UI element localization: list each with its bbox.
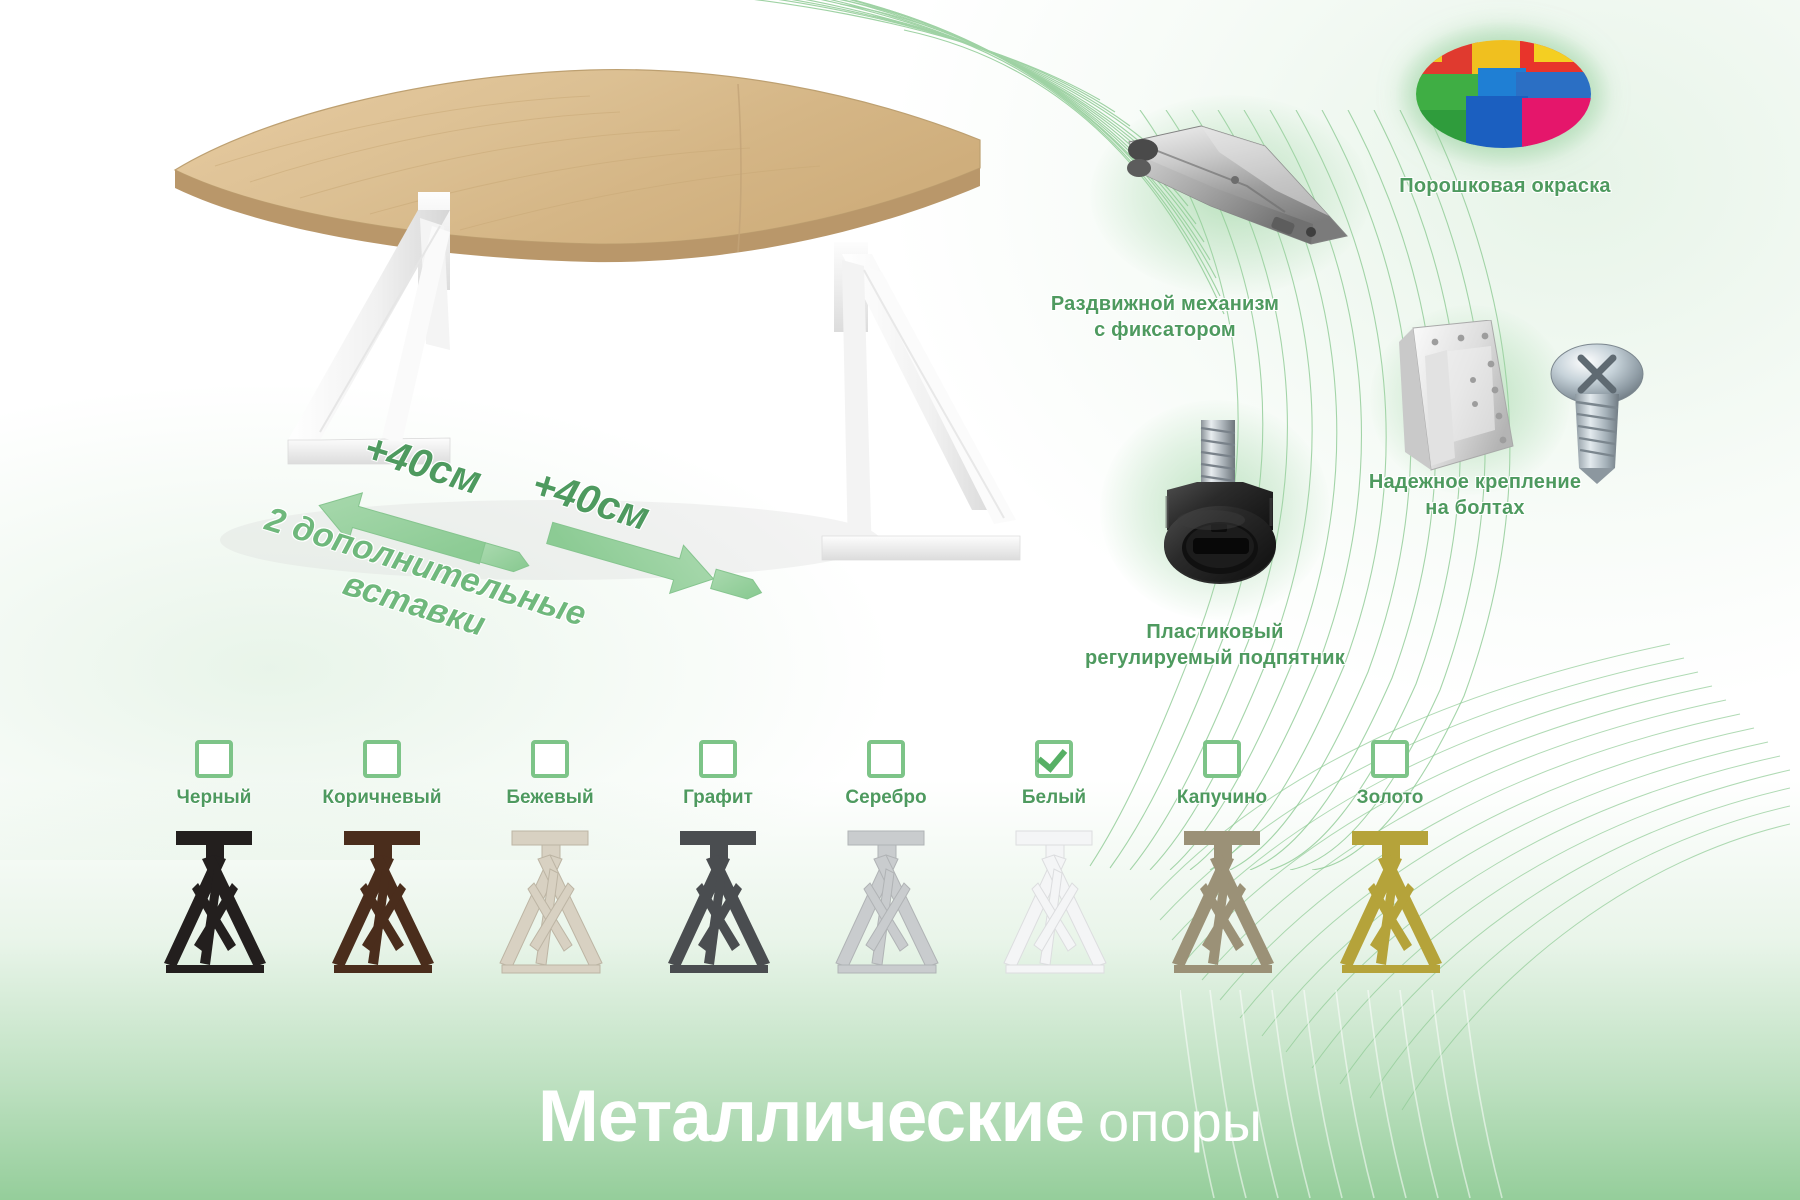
- leg-preview-7: [1290, 825, 1490, 975]
- color-checkbox-3[interactable]: [699, 740, 737, 778]
- color-name-7: Золото: [1290, 787, 1490, 809]
- color-checkbox-5[interactable]: [1035, 740, 1073, 778]
- infographic-canvas: +40см +40см 2 дополнительные вставки Пор…: [0, 0, 1800, 1200]
- powder-coating-label: Порошковая окраска: [1360, 174, 1650, 200]
- bolt-mount-label: Надежное крепление на болтах: [1330, 470, 1620, 521]
- color-checkbox-4[interactable]: [867, 740, 905, 778]
- bottom-title-strong: Металлические: [538, 1076, 1084, 1157]
- sliding-mechanism-icon: [1115, 120, 1365, 265]
- plastic-adjustable-foot-icon: [1145, 420, 1295, 615]
- color-checkbox-1[interactable]: [363, 740, 401, 778]
- color-checkbox-6[interactable]: [1203, 740, 1241, 778]
- color-checkbox-0[interactable]: [195, 740, 233, 778]
- color-option-7[interactable]: Золото: [1290, 740, 1490, 975]
- color-options-row: Черный Коричн: [0, 740, 1800, 1020]
- powder-paint-oval-icon: [1416, 40, 1591, 148]
- color-checkbox-2[interactable]: [531, 740, 569, 778]
- color-checkbox-7[interactable]: [1371, 740, 1409, 778]
- bottom-title-light: опоры: [1098, 1090, 1262, 1153]
- sliding-mechanism-label: Раздвижной механизм с фиксатором: [1000, 292, 1330, 343]
- adjustable-foot-label: Пластиковый регулируемый подпятник: [1040, 620, 1390, 671]
- bottom-title: Металлическиеопоры: [0, 1075, 1800, 1158]
